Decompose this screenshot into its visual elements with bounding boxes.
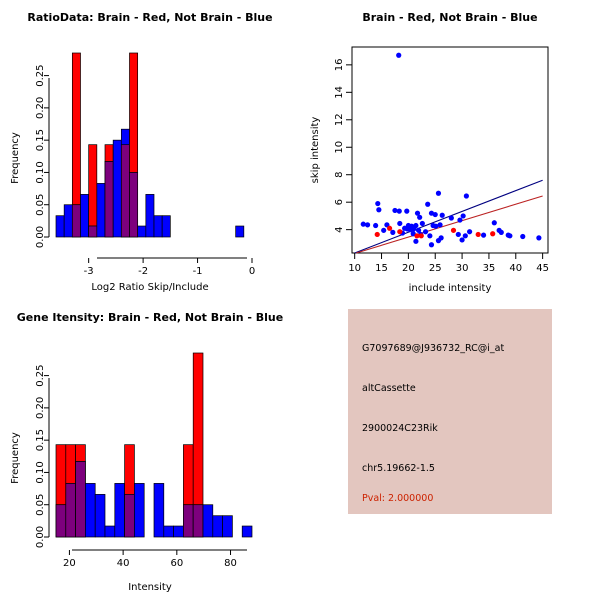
scatter-x-axis: 1015202530354045	[348, 253, 549, 274]
x-tick-label: 60	[170, 558, 183, 569]
x-tick-label: -2	[138, 266, 148, 277]
scatter-plot-frame	[352, 47, 548, 253]
y-tick-label: 0.05	[35, 194, 46, 216]
x-tick-label: 40	[509, 263, 522, 274]
histogram-bar-brain	[72, 53, 80, 205]
scatter-point-brain	[490, 231, 495, 236]
scatter-point-not-brain	[429, 242, 434, 247]
scatter-plot-area: 46810121416 1015202530354045 skip intens…	[300, 0, 600, 300]
x-tick-label: 30	[456, 263, 469, 274]
ratio-y-axis: 0.000.050.100.150.200.25	[35, 64, 49, 248]
y-tick-label: 16	[334, 58, 345, 71]
x-tick-label: 20	[402, 263, 415, 274]
info-event-type: altCassette	[362, 383, 416, 394]
histogram-bar-brain	[76, 445, 86, 462]
histogram-bar-not-brain	[242, 526, 252, 537]
histogram-bar-overlap	[66, 483, 76, 537]
scatter-point-not-brain	[499, 230, 504, 235]
ratio-x-axis: -3-2-10	[84, 258, 256, 277]
y-tick-label: 0.20	[35, 97, 46, 119]
histogram-bar-overlap	[183, 505, 193, 537]
x-tick-label: 80	[224, 558, 237, 569]
scatter-point-not-brain	[404, 209, 409, 214]
x-tick-label: 0	[249, 266, 255, 277]
scatter-point-not-brain	[437, 222, 442, 227]
histogram-bar-brain	[130, 53, 138, 172]
scatter-ylabel: skip intensity	[310, 117, 321, 184]
info-gene-symbol: 2900024C23Rik	[362, 423, 438, 434]
histogram-bar-overlap	[56, 505, 66, 537]
scatter-svg: 46810121416 1015202530354045 skip intens…	[300, 0, 600, 300]
histogram-bar-not-brain	[95, 494, 105, 537]
scatter-point-not-brain	[376, 207, 381, 212]
scatter-point-not-brain	[463, 233, 468, 238]
histogram-bar-brain	[66, 445, 76, 484]
y-tick-label: 0.15	[35, 129, 46, 151]
histogram-bar-overlap	[105, 161, 113, 237]
histogram-bar-brain	[193, 353, 203, 505]
gene-bars-group	[56, 353, 252, 537]
histogram-bar-not-brain	[138, 226, 146, 237]
y-tick-label: 0.15	[35, 429, 46, 451]
info-background	[348, 309, 552, 514]
histogram-bar-not-brain	[154, 216, 162, 237]
scatter-point-not-brain	[417, 215, 422, 220]
histogram-bar-not-brain	[115, 483, 125, 537]
scatter-point-brain	[419, 233, 424, 238]
histogram-bar-not-brain	[105, 526, 115, 537]
info-locus: chr5.19662-1.5	[362, 463, 435, 474]
histogram-bar-overlap	[130, 172, 138, 237]
y-tick-label: 0.25	[35, 364, 46, 386]
histogram-bar-not-brain	[56, 216, 64, 237]
y-tick-label: 0.05	[35, 494, 46, 516]
histogram-bar-not-brain	[164, 526, 174, 537]
histogram-bar-overlap	[125, 494, 135, 537]
scatter-point-not-brain	[456, 232, 461, 237]
x-tick-label: 40	[117, 558, 130, 569]
scatter-point-not-brain	[467, 229, 472, 234]
gene-y-axis: 0.000.050.100.150.200.25	[35, 364, 49, 548]
histogram-bar-overlap	[193, 505, 203, 537]
histogram-bar-not-brain	[64, 205, 72, 237]
histogram-bar-not-brain	[236, 226, 244, 237]
histogram-bar-brain	[89, 145, 97, 226]
histogram-bar-not-brain	[85, 483, 95, 537]
x-tick-label: -3	[84, 266, 94, 277]
scatter-point-not-brain	[492, 220, 497, 225]
y-tick-label: 12	[334, 113, 345, 126]
scatter-point-not-brain	[436, 238, 441, 243]
histogram-bar-brain	[183, 445, 193, 505]
gene-ylabel: Frequency	[10, 432, 21, 484]
ratio-ylabel: Frequency	[10, 132, 21, 184]
histogram-bar-overlap	[121, 145, 129, 237]
panel-ratio-histogram: RatioData: Brain - Red, Not Brain - Blue…	[0, 0, 300, 300]
histogram-bar-not-brain	[113, 140, 121, 237]
histogram-bar-not-brain	[223, 516, 233, 537]
panel-gene-info: G7097689@J936732_RC@i_at altCassette 290…	[300, 300, 600, 600]
histogram-bar-not-brain	[146, 194, 154, 237]
info-pval: Pval: 2.000000	[362, 493, 433, 504]
gene-plot-area: 0.000.050.100.150.200.25 20406080 Freque…	[0, 300, 300, 600]
scatter-point-not-brain	[381, 228, 386, 233]
histogram-bar-brain	[105, 145, 113, 162]
histogram-bar-not-brain	[81, 194, 89, 237]
scatter-point-brain	[397, 229, 402, 234]
scatter-point-not-brain	[459, 237, 464, 242]
y-tick-label: 0.00	[35, 526, 46, 548]
y-tick-label: 0.00	[35, 226, 46, 248]
ratio-bars-group	[56, 53, 244, 237]
info-probe-id: G7097689@J936732_RC@i_at	[362, 343, 504, 354]
scatter-point-not-brain	[390, 230, 395, 235]
x-tick-label: -1	[193, 266, 203, 277]
histogram-bar-not-brain	[134, 483, 144, 537]
scatter-y-axis: 46810121416	[334, 58, 352, 232]
panel-intensity-scatter: Brain - Red, Not Brain - Blue 4681012141…	[300, 0, 600, 300]
x-tick-label: 35	[483, 263, 496, 274]
y-tick-label: 6	[334, 199, 345, 205]
ratio-histogram-svg: 0.000.050.100.150.200.25 -3-2-10 Frequen…	[0, 0, 300, 300]
histogram-bar-brain	[125, 445, 135, 495]
histogram-bar-not-brain	[97, 183, 105, 237]
x-tick-label: 25	[429, 263, 442, 274]
scatter-point-not-brain	[507, 233, 512, 238]
scatter-point-brain	[375, 232, 380, 237]
scatter-point-brain	[476, 232, 481, 237]
scatter-point-not-brain	[436, 191, 441, 196]
scatter-point-not-brain	[481, 233, 486, 238]
histogram-bar-overlap	[72, 205, 80, 237]
y-tick-label: 8	[334, 172, 345, 178]
scatter-point-not-brain	[461, 213, 466, 218]
histogram-bar-not-brain	[162, 216, 170, 237]
panel-gene-intensity-histogram: Gene Itensity: Brain - Red, Not Brain - …	[0, 300, 300, 600]
histogram-bar-overlap	[89, 226, 97, 237]
scatter-point-not-brain	[536, 235, 541, 240]
histogram-bar-overlap	[76, 461, 86, 537]
x-tick-label: 45	[536, 263, 549, 274]
scatter-point-not-brain	[449, 215, 454, 220]
histogram-bar-not-brain	[154, 483, 164, 537]
histogram-bar-not-brain	[203, 505, 213, 537]
scatter-point-not-brain	[433, 212, 438, 217]
x-tick-label: 10	[348, 263, 361, 274]
scatter-point-not-brain	[457, 217, 462, 222]
scatter-point-not-brain	[425, 202, 430, 207]
scatter-point-brain	[387, 226, 392, 231]
histogram-bar-brain	[56, 445, 66, 505]
gene-x-axis: 20406080	[63, 550, 247, 569]
scatter-point-not-brain	[365, 222, 370, 227]
y-tick-label: 10	[334, 141, 345, 154]
scatter-point-not-brain	[397, 221, 402, 226]
scatter-point-not-brain	[520, 234, 525, 239]
x-tick-label: 15	[375, 263, 388, 274]
scatter-point-not-brain	[440, 213, 445, 218]
x-tick-label: 20	[63, 558, 76, 569]
scatter-xlabel: include intensity	[409, 283, 492, 294]
scatter-point-not-brain	[373, 223, 378, 228]
y-tick-label: 0.10	[35, 461, 46, 483]
scatter-point-not-brain	[420, 221, 425, 226]
histogram-bar-not-brain	[213, 516, 223, 537]
scatter-point-not-brain	[411, 226, 416, 231]
y-tick-label: 14	[334, 86, 345, 99]
y-tick-label: 0.25	[35, 64, 46, 86]
y-tick-label: 4	[334, 226, 345, 232]
y-tick-label: 0.20	[35, 397, 46, 419]
scatter-point-not-brain	[396, 53, 401, 58]
scatter-point-not-brain	[397, 209, 402, 214]
scatter-point-not-brain	[375, 201, 380, 206]
ratio-xlabel: Log2 Ratio Skip/Include	[91, 282, 208, 293]
scatter-point-not-brain	[413, 239, 418, 244]
histogram-bar-not-brain	[174, 526, 184, 537]
gene-histogram-svg: 0.000.050.100.150.200.25 20406080 Freque…	[0, 300, 300, 600]
scatter-point-not-brain	[464, 193, 469, 198]
scatter-point-not-brain	[427, 233, 432, 238]
scatter-point-brain	[451, 228, 456, 233]
ratio-plot-area: 0.000.050.100.150.200.25 -3-2-10 Frequen…	[0, 0, 300, 300]
gene-xlabel: Intensity	[128, 582, 172, 593]
y-tick-label: 0.10	[35, 161, 46, 183]
scatter-point-not-brain	[423, 229, 428, 234]
